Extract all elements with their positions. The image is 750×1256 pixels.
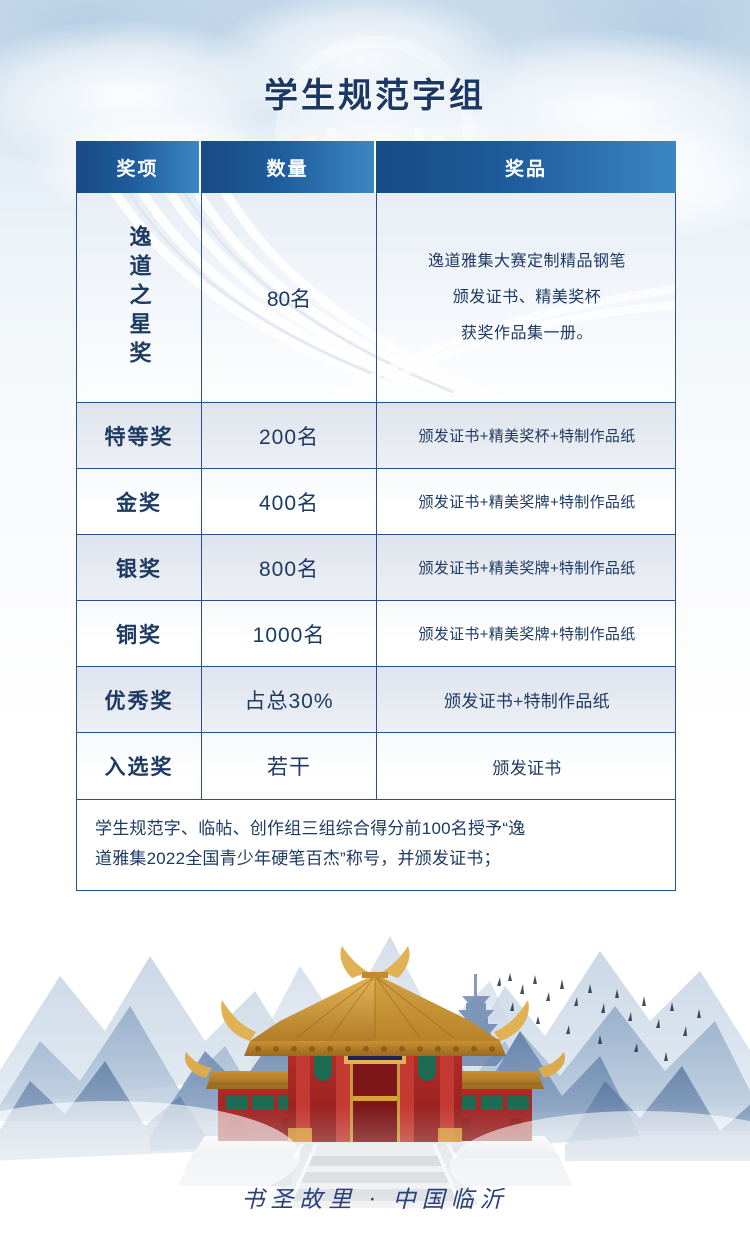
cell-prize: 颁发证书+精美奖牌+特制作品纸 [377,601,676,666]
palace-building [178,946,572,1208]
cell-award-name: 银奖 [77,535,202,600]
cell-prize: 颁发证书 [377,733,676,799]
table-header-award: 奖项 [76,141,201,193]
palace-main-hall [288,1038,462,1142]
cell-quantity: 200名 [202,403,377,468]
poster-root: 学生规范字组 奖项 数量 奖品 [0,0,750,1256]
cell-quantity: 80名 [202,193,377,402]
table-footnote: 学生规范字、临帖、创作组三组综合得分前100名授予“逸 道雅集2022全国青少年… [76,800,676,891]
cell-award-name: 金奖 [77,469,202,534]
table-row: 优秀奖 占总30% 颁发证书+特制作品纸 [77,667,675,733]
mountains-mid [0,1006,750,1131]
cell-award-name: 入选奖 [77,733,202,799]
table-body: 逸道之星奖 80名 逸道雅集大赛定制精品钢笔 颁发证书、精美奖杯 获奖作品集一册… [76,193,676,800]
cell-award-name: 特等奖 [77,403,202,468]
stone-platform [190,1136,560,1174]
mountains-near [0,1021,750,1161]
table-row: 入选奖 若干 颁发证书 [77,733,675,799]
scene-baseline [0,1208,750,1256]
table-row: 铜奖 1000名 颁发证书+精美奖牌+特制作品纸 [77,601,675,667]
cell-quantity: 若干 [202,733,377,799]
awards-table: 奖项 数量 奖品 [76,141,676,891]
table-header-row: 奖项 数量 奖品 [76,141,676,193]
cell-award-name: 逸道之星奖 [77,193,202,402]
table-row: 特等奖 200名 颁发证书+精美奖杯+特制作品纸 [77,403,675,469]
cell-quantity: 400名 [202,469,377,534]
footnote-line: 学生规范字、临帖、创作组三组综合得分前100名授予“逸 [95,814,657,844]
cell-quantity: 1000名 [202,601,377,666]
table-header-quantity: 数量 [201,141,376,193]
table-header-prize: 奖品 [376,141,676,193]
cell-prize: 颁发证书+精美奖杯+特制作品纸 [377,403,676,468]
cell-prize: 颁发证书+精美奖牌+特制作品纸 [377,469,676,534]
award-name-vertical: 逸道之星奖 [127,225,150,370]
table-row: 逸道之星奖 80名 逸道雅集大赛定制精品钢笔 颁发证书、精美奖杯 获奖作品集一册… [77,193,675,403]
pagoda-silhouette [446,974,506,1066]
cell-award-name: 铜奖 [77,601,202,666]
cell-prize: 颁发证书+精美奖牌+特制作品纸 [377,535,676,600]
footnote-line: 道雅集2022全国青少年硬笔百杰”称号，并颁发证书； [95,844,657,874]
cell-quantity: 占总30% [202,667,377,732]
mountains-far [0,936,750,1106]
birds-flock [497,973,701,1061]
palace-left-wing [185,1052,312,1141]
table-row: 银奖 800名 颁发证书+精美奖牌+特制作品纸 [77,535,675,601]
palace-main-roof [221,946,529,1056]
footer-caption: 书圣故里 · 中国临沂 [0,1180,750,1214]
cell-prize: 逸道雅集大赛定制精品钢笔 颁发证书、精美奖杯 获奖作品集一册。 [377,193,676,402]
cell-quantity: 800名 [202,535,377,600]
prize-line: 颁发证书、精美奖杯 [428,288,626,308]
palace-right-wing [438,1052,565,1141]
prize-line: 获奖作品集一册。 [428,324,626,344]
cell-award-name: 优秀奖 [77,667,202,732]
prize-line: 逸道雅集大赛定制精品钢笔 [428,252,626,272]
cell-prize: 颁发证书+特制作品纸 [377,667,676,732]
page-title: 学生规范字组 [0,68,750,117]
table-row: 金奖 400名 颁发证书+精美奖牌+特制作品纸 [77,469,675,535]
